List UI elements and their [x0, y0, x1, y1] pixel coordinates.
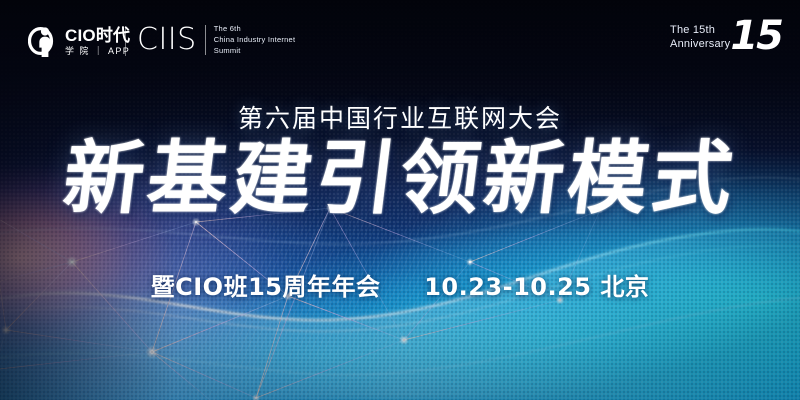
- conference-headline: 新基建引领新模式: [0, 139, 800, 219]
- logo-ciis-divider: [205, 25, 206, 55]
- logo-cio-title: CIO时代: [65, 27, 130, 44]
- logo-divider: [125, 26, 126, 56]
- logo-cio-era[interactable]: CIO时代 学 院 ｜ APP: [28, 24, 130, 58]
- anniversary-text: The 15th Anniversary: [670, 24, 730, 52]
- poster-header: CIO时代 学 院 ｜ APP CIIS The 6th China Indus…: [0, 0, 800, 88]
- conference-kicker: 第六届中国行业互联网大会: [0, 99, 800, 135]
- logo-ciis-tagline-line3: Summit: [214, 46, 296, 56]
- logo-cio-subtitle: 学 院 ｜ APP: [65, 47, 130, 56]
- footer-date-location: 10.23-10.25 北京: [424, 273, 649, 301]
- anniversary-badge: The 15th Anniversary 15: [670, 22, 782, 54]
- logo-ciis[interactable]: CIIS The 6th China Industry Internet Sum…: [137, 24, 295, 56]
- logo-ciis-tagline: The 6th China Industry Internet Summit: [214, 24, 296, 56]
- logo-ciis-tagline-line2: China Industry Internet: [214, 35, 296, 45]
- conference-poster: CIO时代 学 院 ｜ APP CIIS The 6th China Indus…: [0, 0, 800, 400]
- logo-ciis-tagline-line1: The 6th: [214, 24, 296, 34]
- anniversary-line1: The 15th: [670, 24, 715, 38]
- footer-event-name: 暨CIO班15周年年会: [151, 273, 381, 301]
- person-in-circle-icon: [28, 24, 58, 58]
- logo-cio-text: CIO时代 学 院 ｜ APP: [65, 27, 130, 56]
- conference-footer-line: 暨CIO班15周年年会 10.23-10.25 北京: [0, 267, 800, 302]
- anniversary-number: 15: [730, 18, 782, 54]
- anniversary-line2: Anniversary: [670, 38, 730, 52]
- logo-ciis-wordmark: CIIS: [137, 25, 197, 55]
